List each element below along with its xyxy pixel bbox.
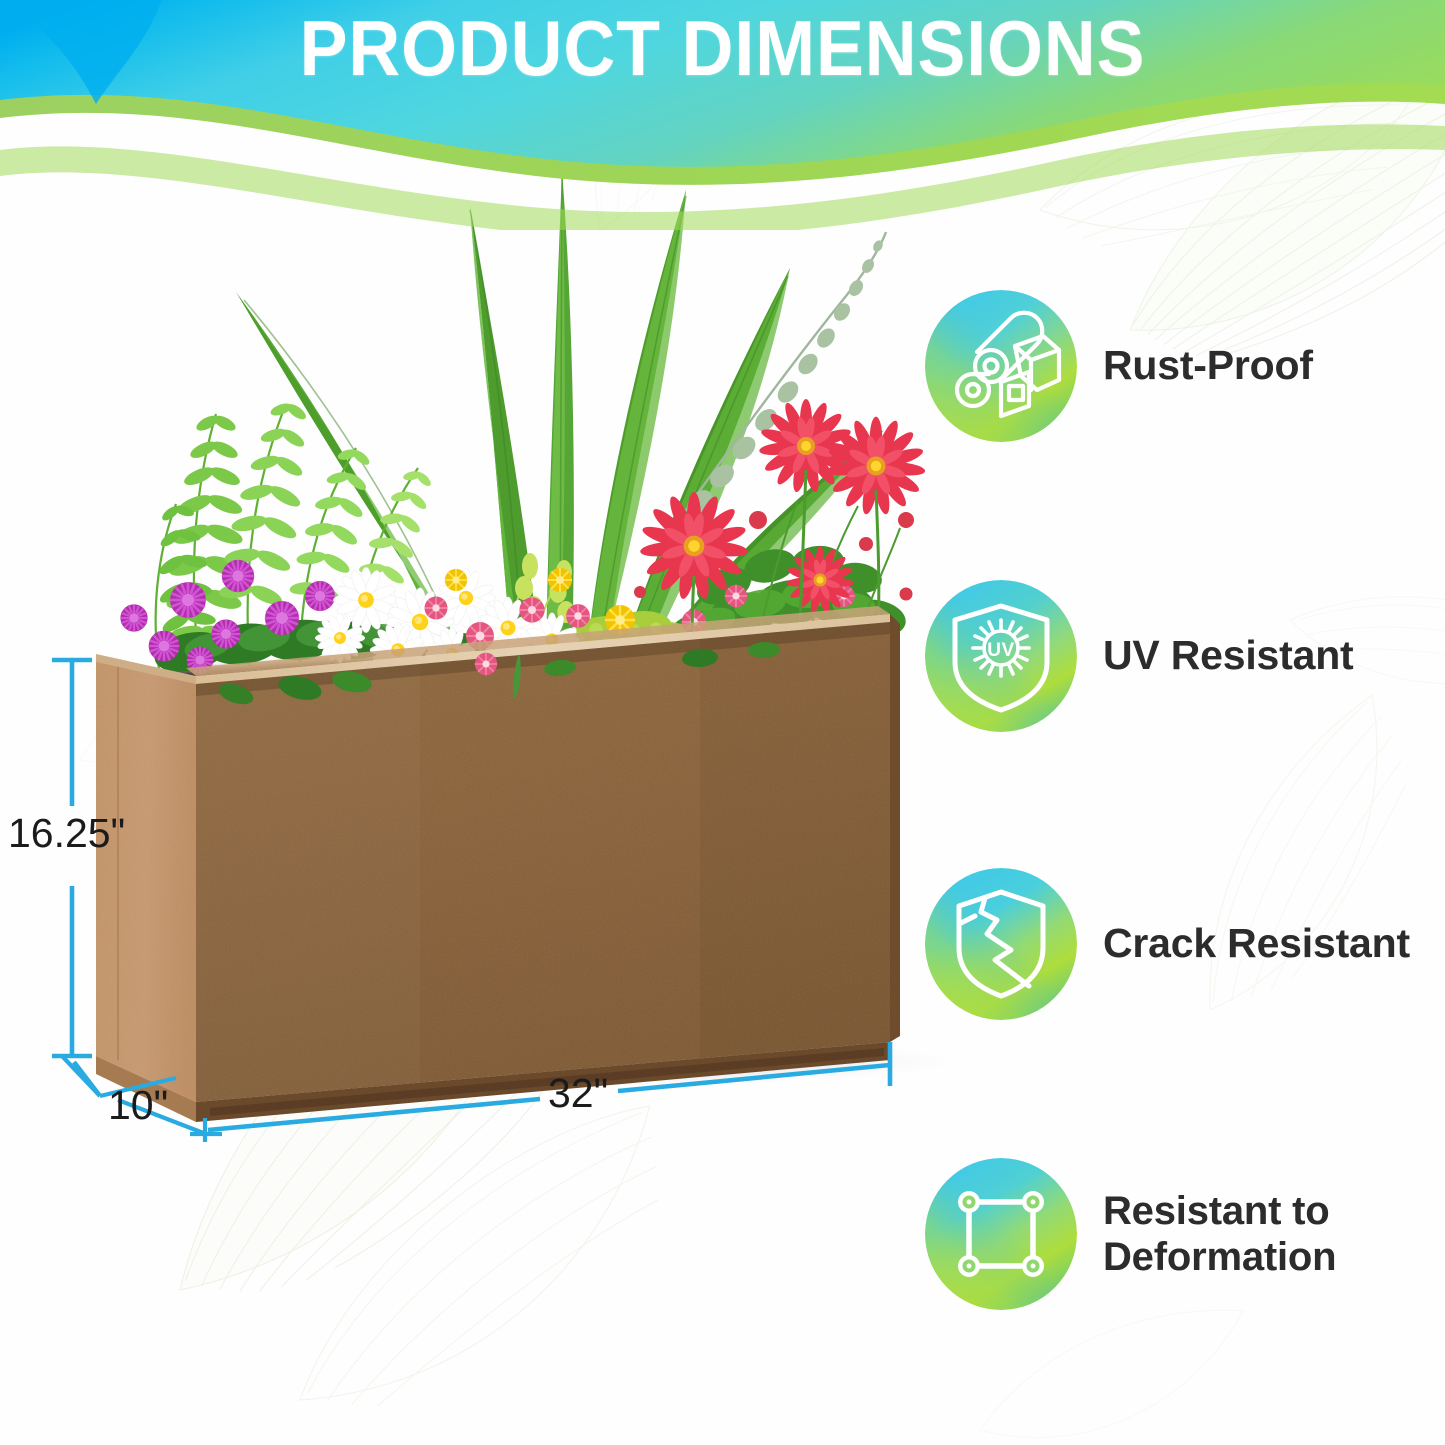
overhanging-foliage bbox=[216, 641, 780, 708]
feature-label: Rust-Proof bbox=[1103, 342, 1313, 390]
lumber-stack-icon bbox=[925, 290, 1077, 442]
planter-box bbox=[96, 606, 900, 1122]
infographic-canvas: PRODUCT DIMENSIONS bbox=[0, 0, 1445, 1445]
feature-item-resistant-to-deformation[interactable]: Resistant toDeformation bbox=[925, 1158, 1445, 1310]
feature-item-uv-resistant[interactable]: UV UV Resistant bbox=[925, 580, 1445, 732]
feature-item-crack-resistant[interactable]: Crack Resistant bbox=[925, 868, 1445, 1020]
width-dimension-label: 32" bbox=[548, 1070, 608, 1117]
plant-arrangement bbox=[120, 170, 925, 700]
dimension-lines bbox=[52, 660, 890, 1142]
height-dimension-label: 16.25" bbox=[8, 810, 125, 857]
feature-list: Rust-Proof bbox=[925, 0, 1445, 1445]
square-nodes-icon bbox=[925, 1158, 1077, 1310]
cracked-shield-icon bbox=[925, 868, 1077, 1020]
svg-text:UV: UV bbox=[987, 640, 1014, 661]
feature-item-rust-proof[interactable]: Rust-Proof bbox=[925, 290, 1445, 442]
feature-label: UV Resistant bbox=[1103, 632, 1354, 680]
uv-shield-icon: UV bbox=[925, 580, 1077, 732]
depth-dimension-label: 10" bbox=[108, 1082, 168, 1129]
feature-label: Resistant toDeformation bbox=[1103, 1188, 1336, 1281]
feature-label: Crack Resistant bbox=[1103, 920, 1410, 968]
height-dimension-line bbox=[52, 660, 92, 1056]
